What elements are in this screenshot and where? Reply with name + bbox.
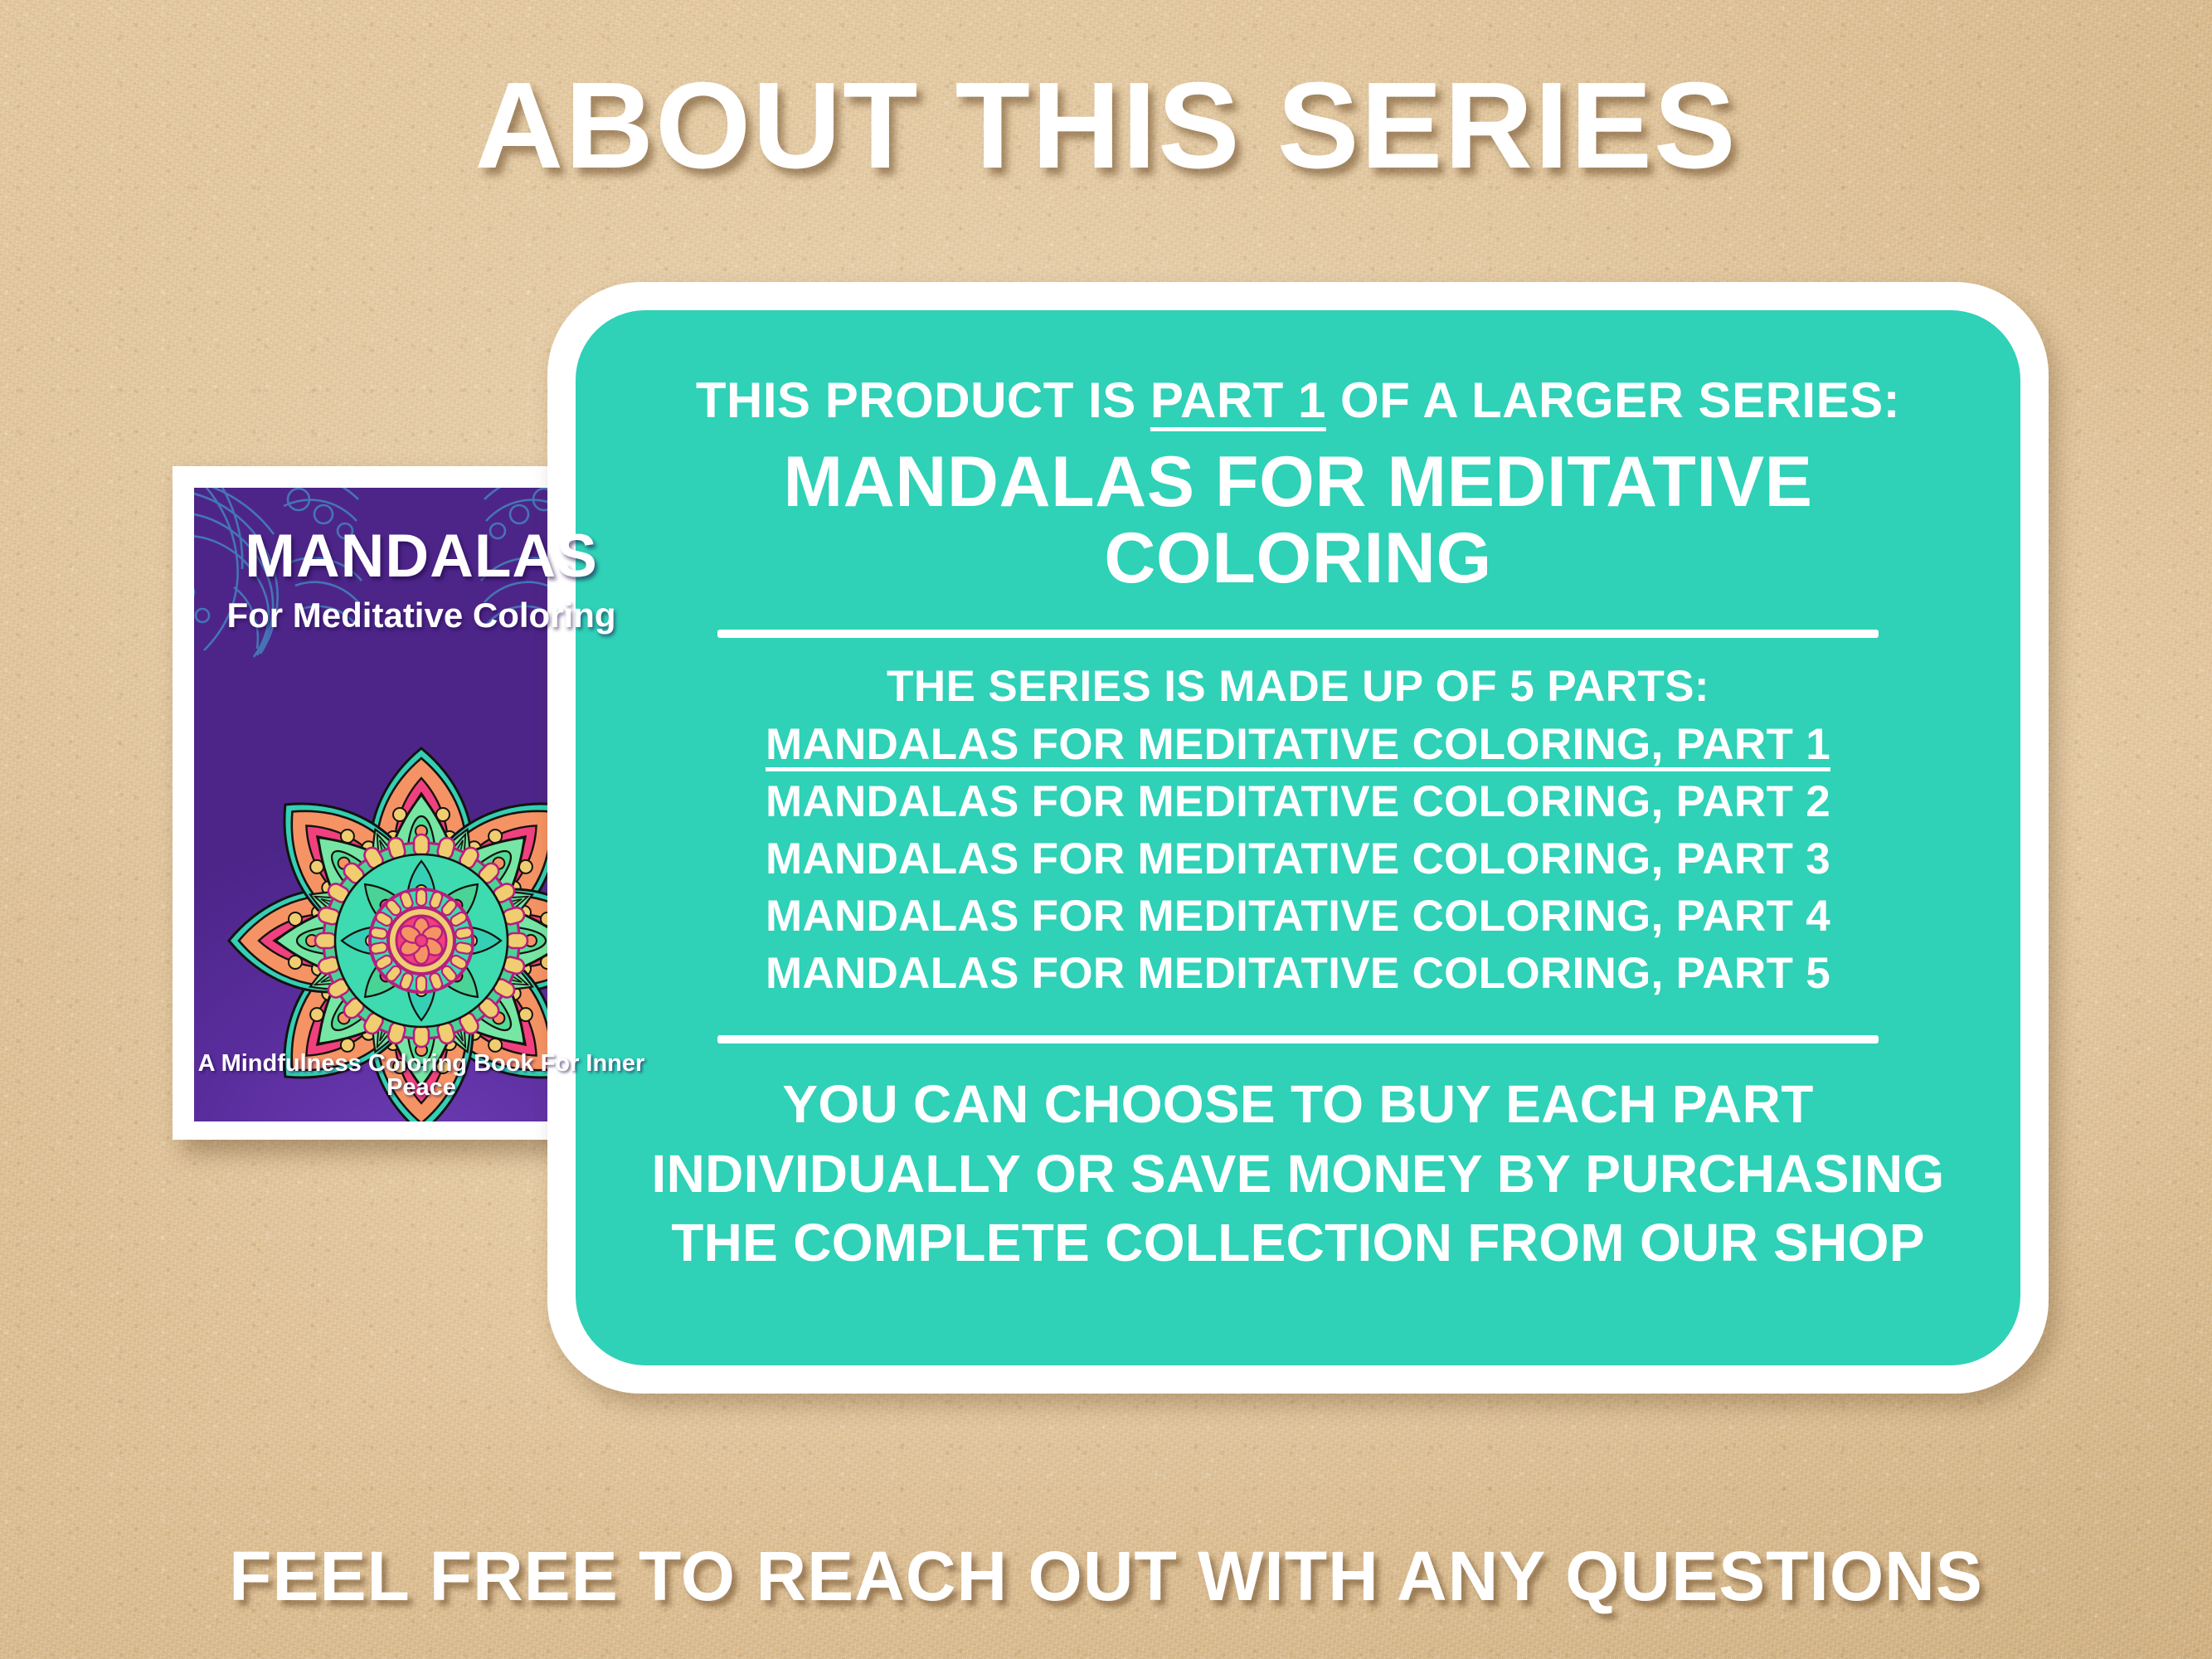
page-title: ABOUT THIS SERIES: [0, 65, 2212, 187]
list-item[interactable]: MANDALAS FOR MEDITATIVE COLORING, PART 1: [766, 717, 1830, 774]
parts-intro-label: THE SERIES IS MADE UP OF 5 PARTS:: [887, 663, 1709, 710]
product-part-statement: THIS PRODUCT IS PART 1 OF A LARGER SERIE…: [696, 375, 1900, 426]
list-item[interactable]: MANDALAS FOR MEDITATIVE COLORING, PART 5: [766, 946, 1830, 1003]
series-name: MANDALAS FOR MEDITATIVE COLORING: [709, 445, 1887, 596]
purchase-note-line: THE COMPLETE COLLECTION FROM OUR SHOP: [652, 1209, 1945, 1277]
divider-top: [717, 630, 1879, 638]
statement-part-emphasis: PART 1: [1150, 372, 1326, 428]
statement-prefix: THIS PRODUCT IS: [696, 372, 1150, 428]
book-cover-subtitle: For Meditative Coloring: [226, 598, 615, 633]
list-item[interactable]: MANDALAS FOR MEDITATIVE COLORING, PART 3: [766, 831, 1830, 888]
series-parts-list: MANDALAS FOR MEDITATIVE COLORING, PART 1…: [766, 717, 1830, 1002]
info-card: THIS PRODUCT IS PART 1 OF A LARGER SERIE…: [576, 310, 2020, 1365]
book-cover-title: MANDALAS: [245, 526, 598, 586]
statement-suffix: OF A LARGER SERIES:: [1326, 372, 1900, 428]
footer-note: FEEL FREE TO REACH OUT WITH ANY QUESTION…: [0, 1541, 2212, 1611]
list-item[interactable]: MANDALAS FOR MEDITATIVE COLORING, PART 4: [766, 888, 1830, 946]
book-cover-tagline: A Mindfulness Coloring Book For Inner Pe…: [194, 1052, 649, 1100]
list-item[interactable]: MANDALAS FOR MEDITATIVE COLORING, PART 2: [766, 774, 1830, 831]
info-card-frame: THIS PRODUCT IS PART 1 OF A LARGER SERIE…: [547, 282, 2049, 1394]
divider-bottom: [717, 1035, 1879, 1044]
purchase-note-line: YOU CAN CHOOSE TO BUY EACH PART: [652, 1070, 1945, 1139]
purchase-note-line: INDIVIDUALLY OR SAVE MONEY BY PURCHASING: [652, 1140, 1945, 1209]
purchase-note: YOU CAN CHOOSE TO BUY EACH PART INDIVIDU…: [652, 1070, 1945, 1277]
